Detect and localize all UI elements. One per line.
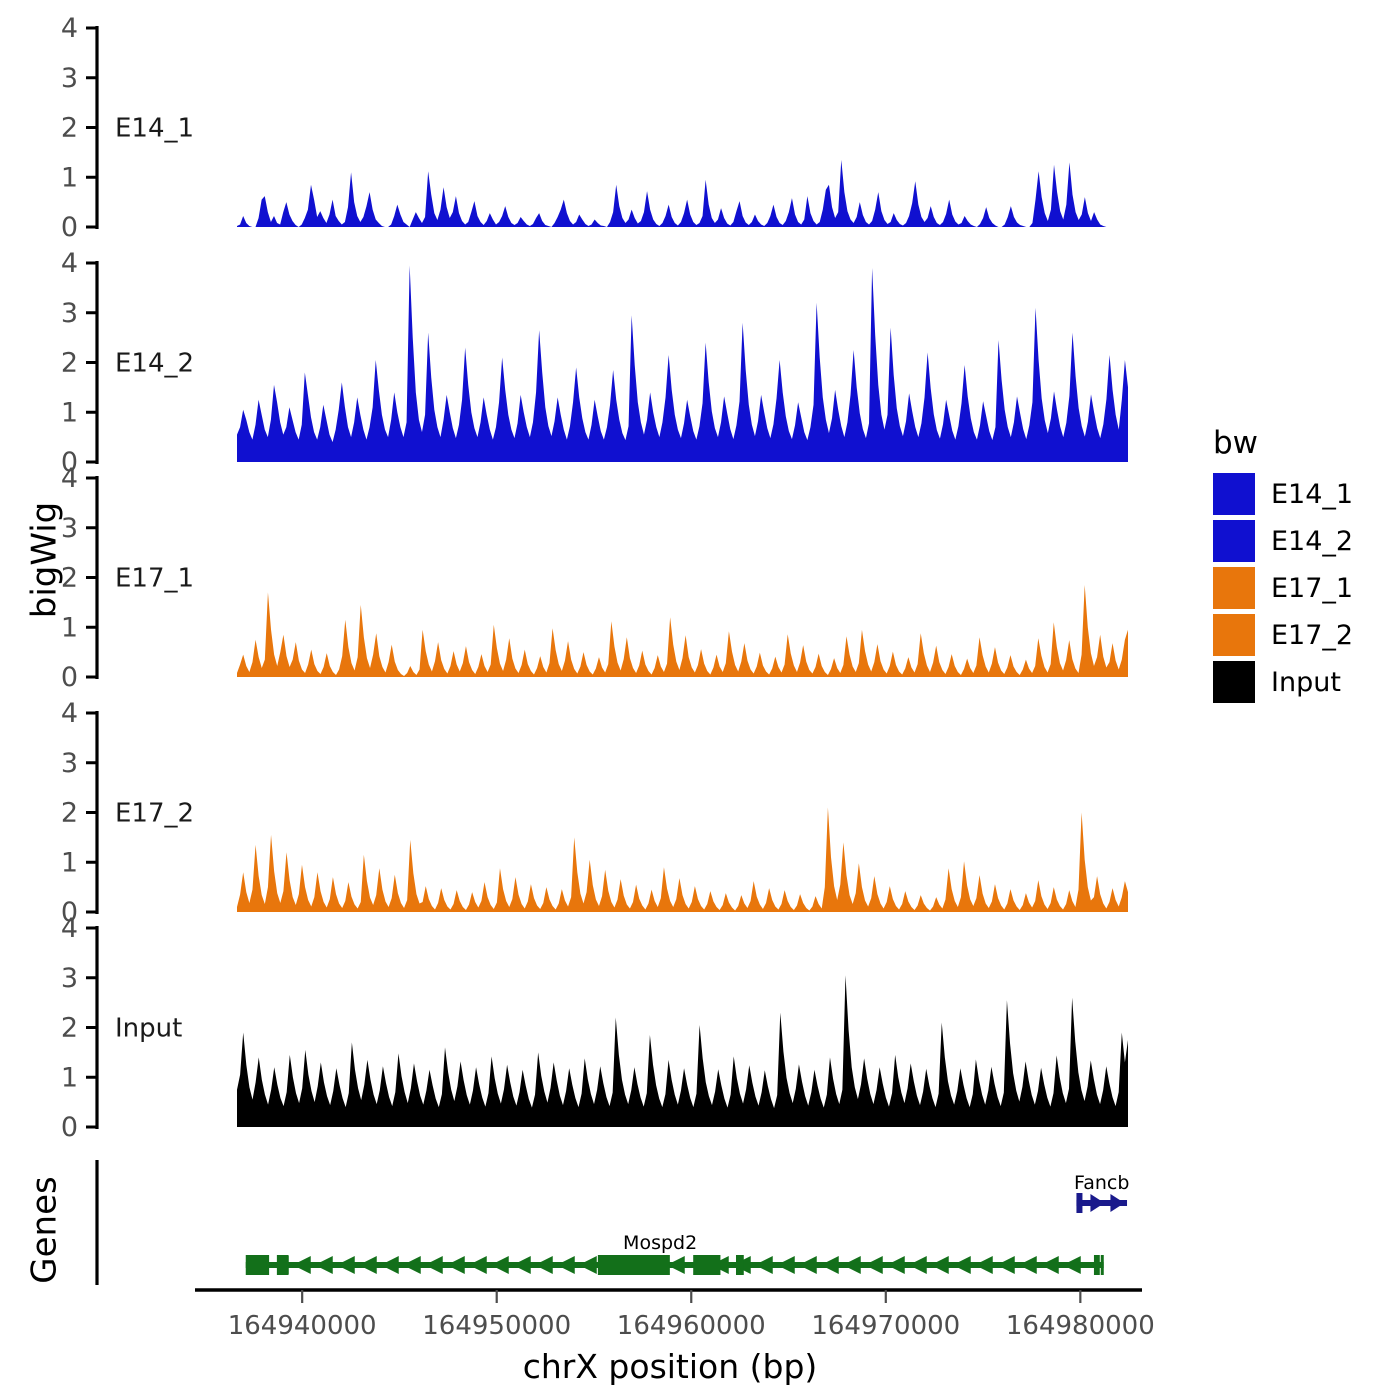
legend-label-e14_1: E14_1 bbox=[1271, 479, 1353, 510]
signal-area-input bbox=[237, 975, 1128, 1127]
track-panel-e14_2: 01234E14_2 bbox=[61, 248, 1128, 478]
gene-exon bbox=[1076, 1193, 1082, 1213]
legend-swatch-input bbox=[1213, 661, 1255, 703]
legend-item-input[interactable]: Input bbox=[1213, 661, 1341, 703]
gene-strand-arrow bbox=[381, 1256, 399, 1274]
legend-item-e14_2[interactable]: E14_2 bbox=[1213, 520, 1353, 562]
legend-swatch-e17_2 bbox=[1213, 614, 1255, 656]
gene-strand-arrow bbox=[821, 1256, 839, 1274]
gene-strand-arrow bbox=[843, 1256, 861, 1274]
track-label-e14_1: E14_1 bbox=[115, 114, 194, 144]
gene-strand-arrow bbox=[909, 1256, 927, 1274]
gene-exon bbox=[246, 1255, 269, 1275]
y-tick-label-e14_1-1: 1 bbox=[61, 162, 78, 193]
y-tick-label-input-4: 4 bbox=[61, 913, 78, 944]
y-tick-label-e17_1-3: 3 bbox=[61, 513, 78, 544]
gene-mospd2: Mospd2 bbox=[246, 1232, 1104, 1275]
track-label-e17_1: E17_1 bbox=[115, 564, 194, 594]
track-label-e17_2: E17_2 bbox=[115, 799, 194, 829]
signal-area-e17_1 bbox=[237, 585, 1128, 677]
gene-strand-arrow bbox=[1063, 1256, 1081, 1274]
legend-label-input: Input bbox=[1271, 667, 1341, 698]
y-tick-label-e14_2-3: 3 bbox=[61, 298, 78, 329]
y-tick-label-e17_2-1: 1 bbox=[61, 847, 78, 878]
track-panel-e17_1: 01234E17_1 bbox=[61, 463, 1128, 693]
legend-item-e17_1[interactable]: E17_1 bbox=[1213, 567, 1353, 609]
gene-label-mospd2: Mospd2 bbox=[623, 1232, 697, 1254]
y-tick-label-input-1: 1 bbox=[61, 1062, 78, 1093]
gene-label-fancb: Fancb bbox=[1074, 1172, 1129, 1194]
genes-panel: Mospd2Fancb bbox=[97, 1160, 1129, 1285]
gene-strand-arrow bbox=[535, 1256, 553, 1274]
y-tick-label-e17_2-2: 2 bbox=[61, 798, 78, 829]
track-panel-e17_2: 01234E17_2 bbox=[61, 698, 1128, 928]
legend-swatch-e17_1 bbox=[1213, 567, 1255, 609]
y-tick-label-e14_2-1: 1 bbox=[61, 397, 78, 428]
legend-swatch-e14_1 bbox=[1213, 473, 1255, 515]
gene-fancb: Fancb bbox=[1074, 1172, 1129, 1213]
legend-title: bw bbox=[1213, 425, 1258, 461]
gene-strand-arrow bbox=[777, 1256, 795, 1274]
gene-strand-arrow bbox=[491, 1256, 509, 1274]
gene-strand-arrow bbox=[953, 1256, 971, 1274]
y-tick-label-e14_1-2: 2 bbox=[61, 113, 78, 144]
y-tick-label-input-0: 0 bbox=[61, 1112, 78, 1143]
signal-area-e14_1 bbox=[237, 160, 1128, 227]
gene-strand-arrow bbox=[1110, 1194, 1124, 1212]
y-tick-label-e17_2-3: 3 bbox=[61, 748, 78, 779]
gene-strand-arrow bbox=[799, 1256, 817, 1274]
gene-strand-arrow bbox=[425, 1256, 443, 1274]
track-label-input: Input bbox=[115, 1014, 182, 1044]
gene-exon bbox=[1101, 1255, 1104, 1275]
gene-strand-arrow bbox=[447, 1256, 465, 1274]
gene-strand-arrow bbox=[557, 1256, 575, 1274]
gene-strand-arrow bbox=[469, 1256, 487, 1274]
gene-strand-arrow bbox=[1019, 1256, 1037, 1274]
gene-strand-arrow bbox=[513, 1256, 531, 1274]
gene-strand-arrow bbox=[315, 1256, 333, 1274]
y-tick-label-e14_2-2: 2 bbox=[61, 348, 78, 379]
gene-strand-arrow bbox=[931, 1256, 949, 1274]
x-tick-label-164960000: 164960000 bbox=[617, 1311, 766, 1341]
x-tick-label-164950000: 164950000 bbox=[422, 1311, 571, 1341]
legend: bwE14_1E14_2E17_1E17_2Input bbox=[1205, 425, 1400, 715]
gene-strand-arrow bbox=[997, 1256, 1015, 1274]
legend-label-e17_1: E17_1 bbox=[1271, 573, 1353, 604]
gene-strand-arrow bbox=[1041, 1256, 1059, 1274]
legend-item-e17_2[interactable]: E17_2 bbox=[1213, 614, 1353, 656]
track-plot-canvas: 01234E14_101234E14_201234E17_101234E17_2… bbox=[60, 0, 1180, 1400]
gene-strand-arrow bbox=[293, 1256, 311, 1274]
gene-strand-arrow bbox=[337, 1256, 355, 1274]
gene-strand-arrow bbox=[1090, 1194, 1104, 1212]
y-tick-label-e14_1-0: 0 bbox=[61, 212, 78, 243]
x-tick-label-164940000: 164940000 bbox=[228, 1311, 377, 1341]
gene-strand-arrow bbox=[403, 1256, 421, 1274]
gene-exon bbox=[1094, 1255, 1100, 1275]
gene-strand-arrow bbox=[359, 1256, 377, 1274]
x-axis: 1649400001649500001649600001649700001649… bbox=[195, 1290, 1155, 1341]
legend-item-e14_1[interactable]: E14_1 bbox=[1213, 473, 1353, 515]
gene-exon bbox=[736, 1255, 744, 1275]
y-tick-label-e14_1-3: 3 bbox=[61, 63, 78, 94]
gene-strand-arrow bbox=[865, 1256, 883, 1274]
x-axis-title-wrap: chrX position (bp) bbox=[140, 1340, 1200, 1394]
gene-strand-arrow bbox=[975, 1256, 993, 1274]
y-tick-label-input-2: 2 bbox=[61, 1013, 78, 1044]
track-panel-input: 01234Input bbox=[61, 913, 1128, 1143]
track-label-e14_2: E14_2 bbox=[115, 349, 194, 379]
gene-strand-arrow bbox=[755, 1256, 773, 1274]
y-tick-label-input-3: 3 bbox=[61, 963, 78, 994]
y-tick-label-e17_1-0: 0 bbox=[61, 662, 78, 693]
legend-swatch-e14_2 bbox=[1213, 520, 1255, 562]
y-tick-label-e14_1-4: 4 bbox=[61, 13, 78, 44]
x-tick-label-164980000: 164980000 bbox=[1006, 1311, 1155, 1341]
signal-area-e14_2 bbox=[237, 265, 1128, 462]
gene-exon bbox=[693, 1255, 720, 1275]
gene-strand-arrow bbox=[579, 1256, 597, 1274]
gene-exon bbox=[598, 1255, 670, 1275]
bigwig-axis-title: bigWig bbox=[25, 502, 65, 619]
signal-area-e17_2 bbox=[237, 808, 1128, 912]
x-tick-label-164970000: 164970000 bbox=[811, 1311, 960, 1341]
y-tick-label-e17_1-2: 2 bbox=[61, 563, 78, 594]
legend-label-e17_2: E17_2 bbox=[1271, 620, 1353, 651]
y-tick-label-e14_2-4: 4 bbox=[61, 248, 78, 279]
x-axis-title: chrX position (bp) bbox=[523, 1347, 818, 1386]
legend-label-e14_2: E14_2 bbox=[1271, 526, 1353, 557]
genes-axis-title: Genes bbox=[25, 1176, 65, 1283]
track-panel-e14_1: 01234E14_1 bbox=[61, 13, 1128, 243]
gene-strand-arrow bbox=[887, 1256, 905, 1274]
y-tick-label-e17_1-4: 4 bbox=[61, 463, 78, 494]
y-tick-label-e17_2-4: 4 bbox=[61, 698, 78, 729]
y-tick-label-e17_1-1: 1 bbox=[61, 612, 78, 643]
gene-exon bbox=[277, 1255, 289, 1275]
